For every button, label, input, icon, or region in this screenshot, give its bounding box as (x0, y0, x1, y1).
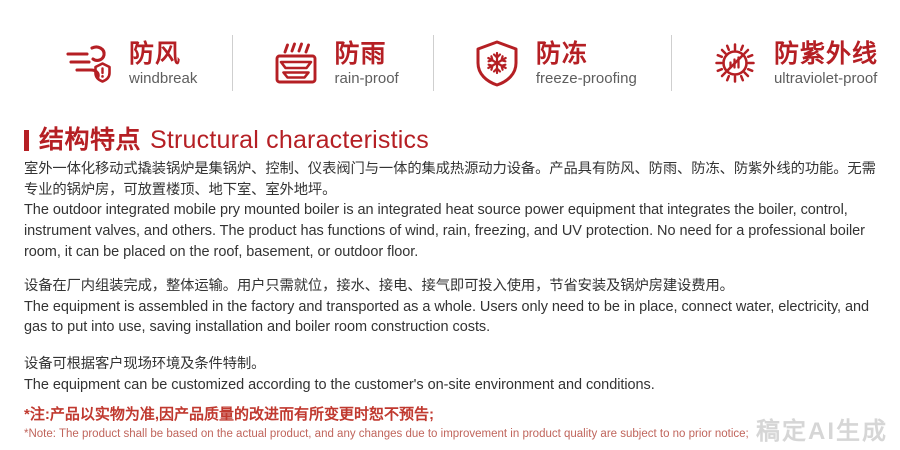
feature-label-group: 防风 windbreak (129, 40, 197, 87)
wind-icon (62, 35, 118, 91)
feature-item-windbreak: 防风 windbreak (62, 35, 197, 91)
section-title: 结构特点 Structural characteristics (0, 128, 900, 153)
paragraph-block-3: 设备可根据客户现场环境及条件特制。 The equipment can be c… (24, 354, 884, 395)
snowflake-shield-icon (469, 35, 525, 91)
feature-label-group: 防雨 rain-proof (335, 40, 399, 87)
feature-strip: 防风 windbreak 防雨 rain-proof (0, 0, 900, 118)
note-en: *Note: The product shall be based on the… (24, 427, 884, 443)
rain-icon (268, 35, 324, 91)
paragraph-block-2: 设备在厂内组装完成，整体运输。用户只需就位，接水、接电、接气即可投入使用，节省安… (24, 276, 884, 338)
feature-label-cn: 防紫外线 (774, 40, 878, 69)
watermark: 稿定AI生成 (756, 420, 888, 444)
feature-label-cn: 防雨 (335, 40, 399, 69)
paragraph-1-en: The outdoor integrated mobile pry mounte… (24, 200, 884, 262)
feature-divider-2 (433, 35, 434, 91)
feature-divider-3 (671, 35, 672, 91)
feature-label-cn: 防冻 (536, 40, 637, 69)
product-feature-page: 防风 windbreak 防雨 rain-proof (0, 0, 900, 450)
paragraph-2-cn: 设备在厂内组装完成，整体运输。用户只需就位，接水、接电、接气即可投入使用，节省安… (24, 276, 884, 297)
feature-label-cn: 防风 (129, 40, 197, 69)
feature-item-ultraviolet-proof: 防紫外线 ultraviolet-proof (707, 35, 878, 91)
content-body: 室外一体化移动式撬装锅炉是集锅炉、控制、仪表阀门与一体的集成热源动力设备。产品具… (0, 153, 900, 395)
note-cn: *注:产品以实物为准,因产品质量的改进而有所变更时恕不预告; (24, 405, 884, 425)
feature-divider-1 (232, 35, 233, 91)
paragraph-block-1: 室外一体化移动式撬装锅炉是集锅炉、控制、仪表阀门与一体的集成热源动力设备。产品具… (24, 159, 884, 262)
feature-label-group: 防紫外线 ultraviolet-proof (774, 40, 878, 87)
paragraph-2-en: The equipment is assembled in the factor… (24, 297, 884, 338)
feature-label-en: windbreak (129, 71, 197, 86)
feature-item-freeze-proofing: 防冻 freeze-proofing (469, 35, 637, 91)
paragraph-3-en: The equipment can be customized accordin… (24, 375, 884, 396)
section-title-cn: 结构特点 (39, 128, 141, 153)
feature-label-en: freeze-proofing (536, 71, 637, 86)
paragraph-3-cn: 设备可根据客户现场环境及条件特制。 (24, 354, 884, 375)
paragraph-1-cn: 室外一体化移动式撬装锅炉是集锅炉、控制、仪表阀门与一体的集成热源动力设备。产品具… (24, 159, 884, 200)
title-accent-bar (24, 130, 29, 151)
feature-item-rain-proof: 防雨 rain-proof (268, 35, 399, 91)
feature-label-en: ultraviolet-proof (774, 71, 878, 86)
uv-sun-icon (707, 35, 763, 91)
feature-label-en: rain-proof (335, 71, 399, 86)
feature-label-group: 防冻 freeze-proofing (536, 40, 637, 87)
section-title-en: Structural characteristics (150, 128, 429, 153)
